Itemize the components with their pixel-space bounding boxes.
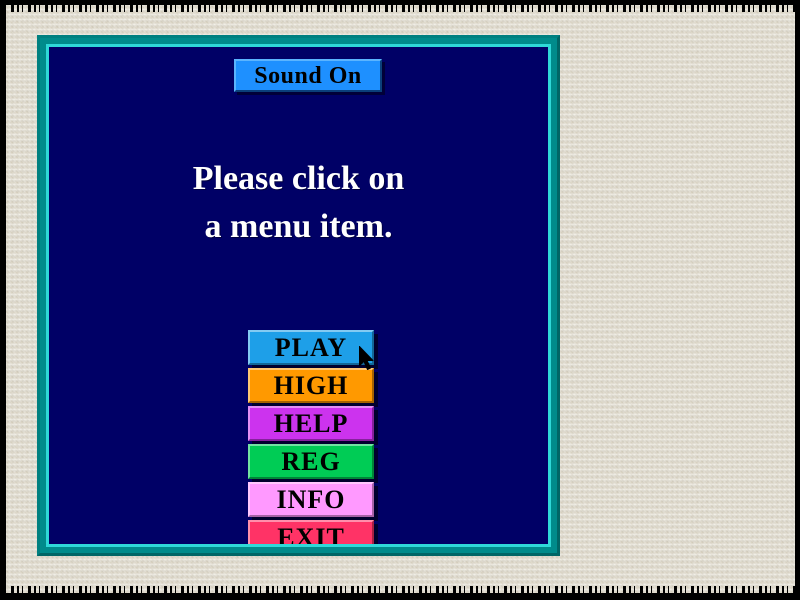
- game-window-bevel: Sound On Please click on a menu item. PL…: [46, 44, 551, 547]
- prompt-line-2: a menu item.: [49, 203, 548, 251]
- menu-item-play-label: PLAY: [275, 335, 347, 361]
- menu-item-info-label: INFO: [277, 487, 346, 513]
- screen-edge-right: [795, 0, 800, 600]
- game-screen: Sound On Please click on a menu item. PL…: [49, 47, 548, 544]
- prompt-message: Please click on a menu item.: [49, 155, 548, 252]
- sound-toggle-label: Sound On: [254, 64, 361, 88]
- main-menu: PLAY HIGH HELP REG INFO EXIT: [248, 330, 374, 544]
- menu-item-high-label: HIGH: [274, 373, 349, 399]
- menu-item-exit[interactable]: EXIT: [248, 520, 374, 544]
- screen-edge-bottom: [0, 593, 800, 600]
- screen-edge-top-dither: [0, 5, 800, 12]
- menu-item-info[interactable]: INFO: [248, 482, 374, 517]
- screen-edge-bottom-dither: [0, 586, 800, 593]
- menu-item-play[interactable]: PLAY: [248, 330, 374, 365]
- menu-item-help[interactable]: HELP: [248, 406, 374, 441]
- game-window-frame: Sound On Please click on a menu item. PL…: [37, 35, 560, 556]
- menu-item-reg-label: REG: [281, 449, 340, 475]
- screen-edge-left: [0, 0, 6, 600]
- menu-item-exit-label: EXIT: [277, 525, 345, 545]
- application-window: Sound On Please click on a menu item. PL…: [0, 0, 800, 600]
- menu-item-help-label: HELP: [274, 411, 349, 437]
- menu-item-high[interactable]: HIGH: [248, 368, 374, 403]
- menu-item-reg[interactable]: REG: [248, 444, 374, 479]
- prompt-line-1: Please click on: [49, 155, 548, 203]
- sound-toggle-button[interactable]: Sound On: [234, 59, 382, 92]
